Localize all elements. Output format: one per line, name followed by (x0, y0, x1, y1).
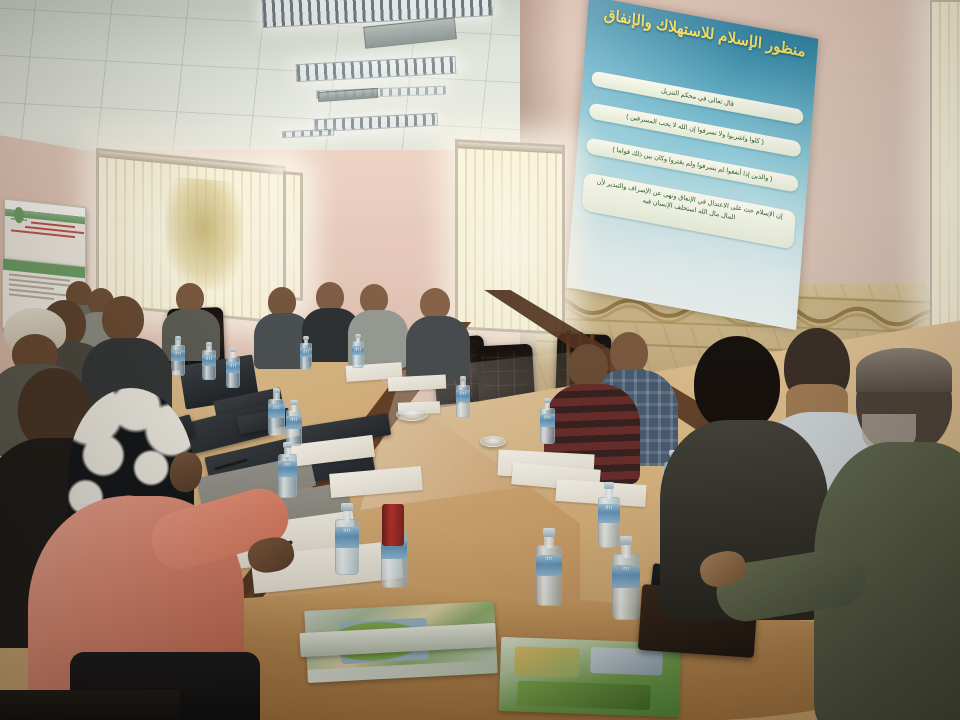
water-bottle[interactable]: ifri (278, 442, 297, 498)
window-tree-silhouette (165, 176, 242, 293)
chair-foreground-bottom[interactable] (0, 690, 180, 720)
window-far-right (930, 0, 960, 330)
poster-logo-icon (11, 206, 27, 230)
water-bottle[interactable]: ifri (612, 536, 640, 620)
projection-screen: منظور الإسلام للاستهلاك والإنفاق قال تعا… (567, 0, 819, 330)
water-bottle[interactable]: ifri (540, 398, 555, 444)
grey-hair (856, 348, 952, 392)
water-bottle[interactable]: ifri (536, 528, 562, 606)
ashtray[interactable] (480, 436, 506, 447)
water-bottle[interactable]: ifri (352, 334, 364, 368)
water-bottle[interactable]: ifri (286, 400, 302, 446)
water-bottle[interactable]: ifri (335, 503, 359, 575)
window-left-sliver (283, 171, 303, 301)
water-bottle[interactable]: ifri (456, 376, 470, 418)
water-bottle[interactable]: ifri (300, 336, 312, 370)
ashtray[interactable] (396, 408, 428, 421)
soda-can[interactable] (382, 504, 404, 546)
meeting-room-photo: منظور الإسلام للاستهلاك والإنفاق قال تعا… (0, 0, 960, 720)
water-bottle[interactable]: ifri (171, 336, 185, 376)
water-bottle[interactable]: ifri (268, 388, 285, 436)
water-bottle[interactable]: ifri (202, 342, 216, 380)
water-bottle[interactable]: ifri (226, 348, 240, 388)
